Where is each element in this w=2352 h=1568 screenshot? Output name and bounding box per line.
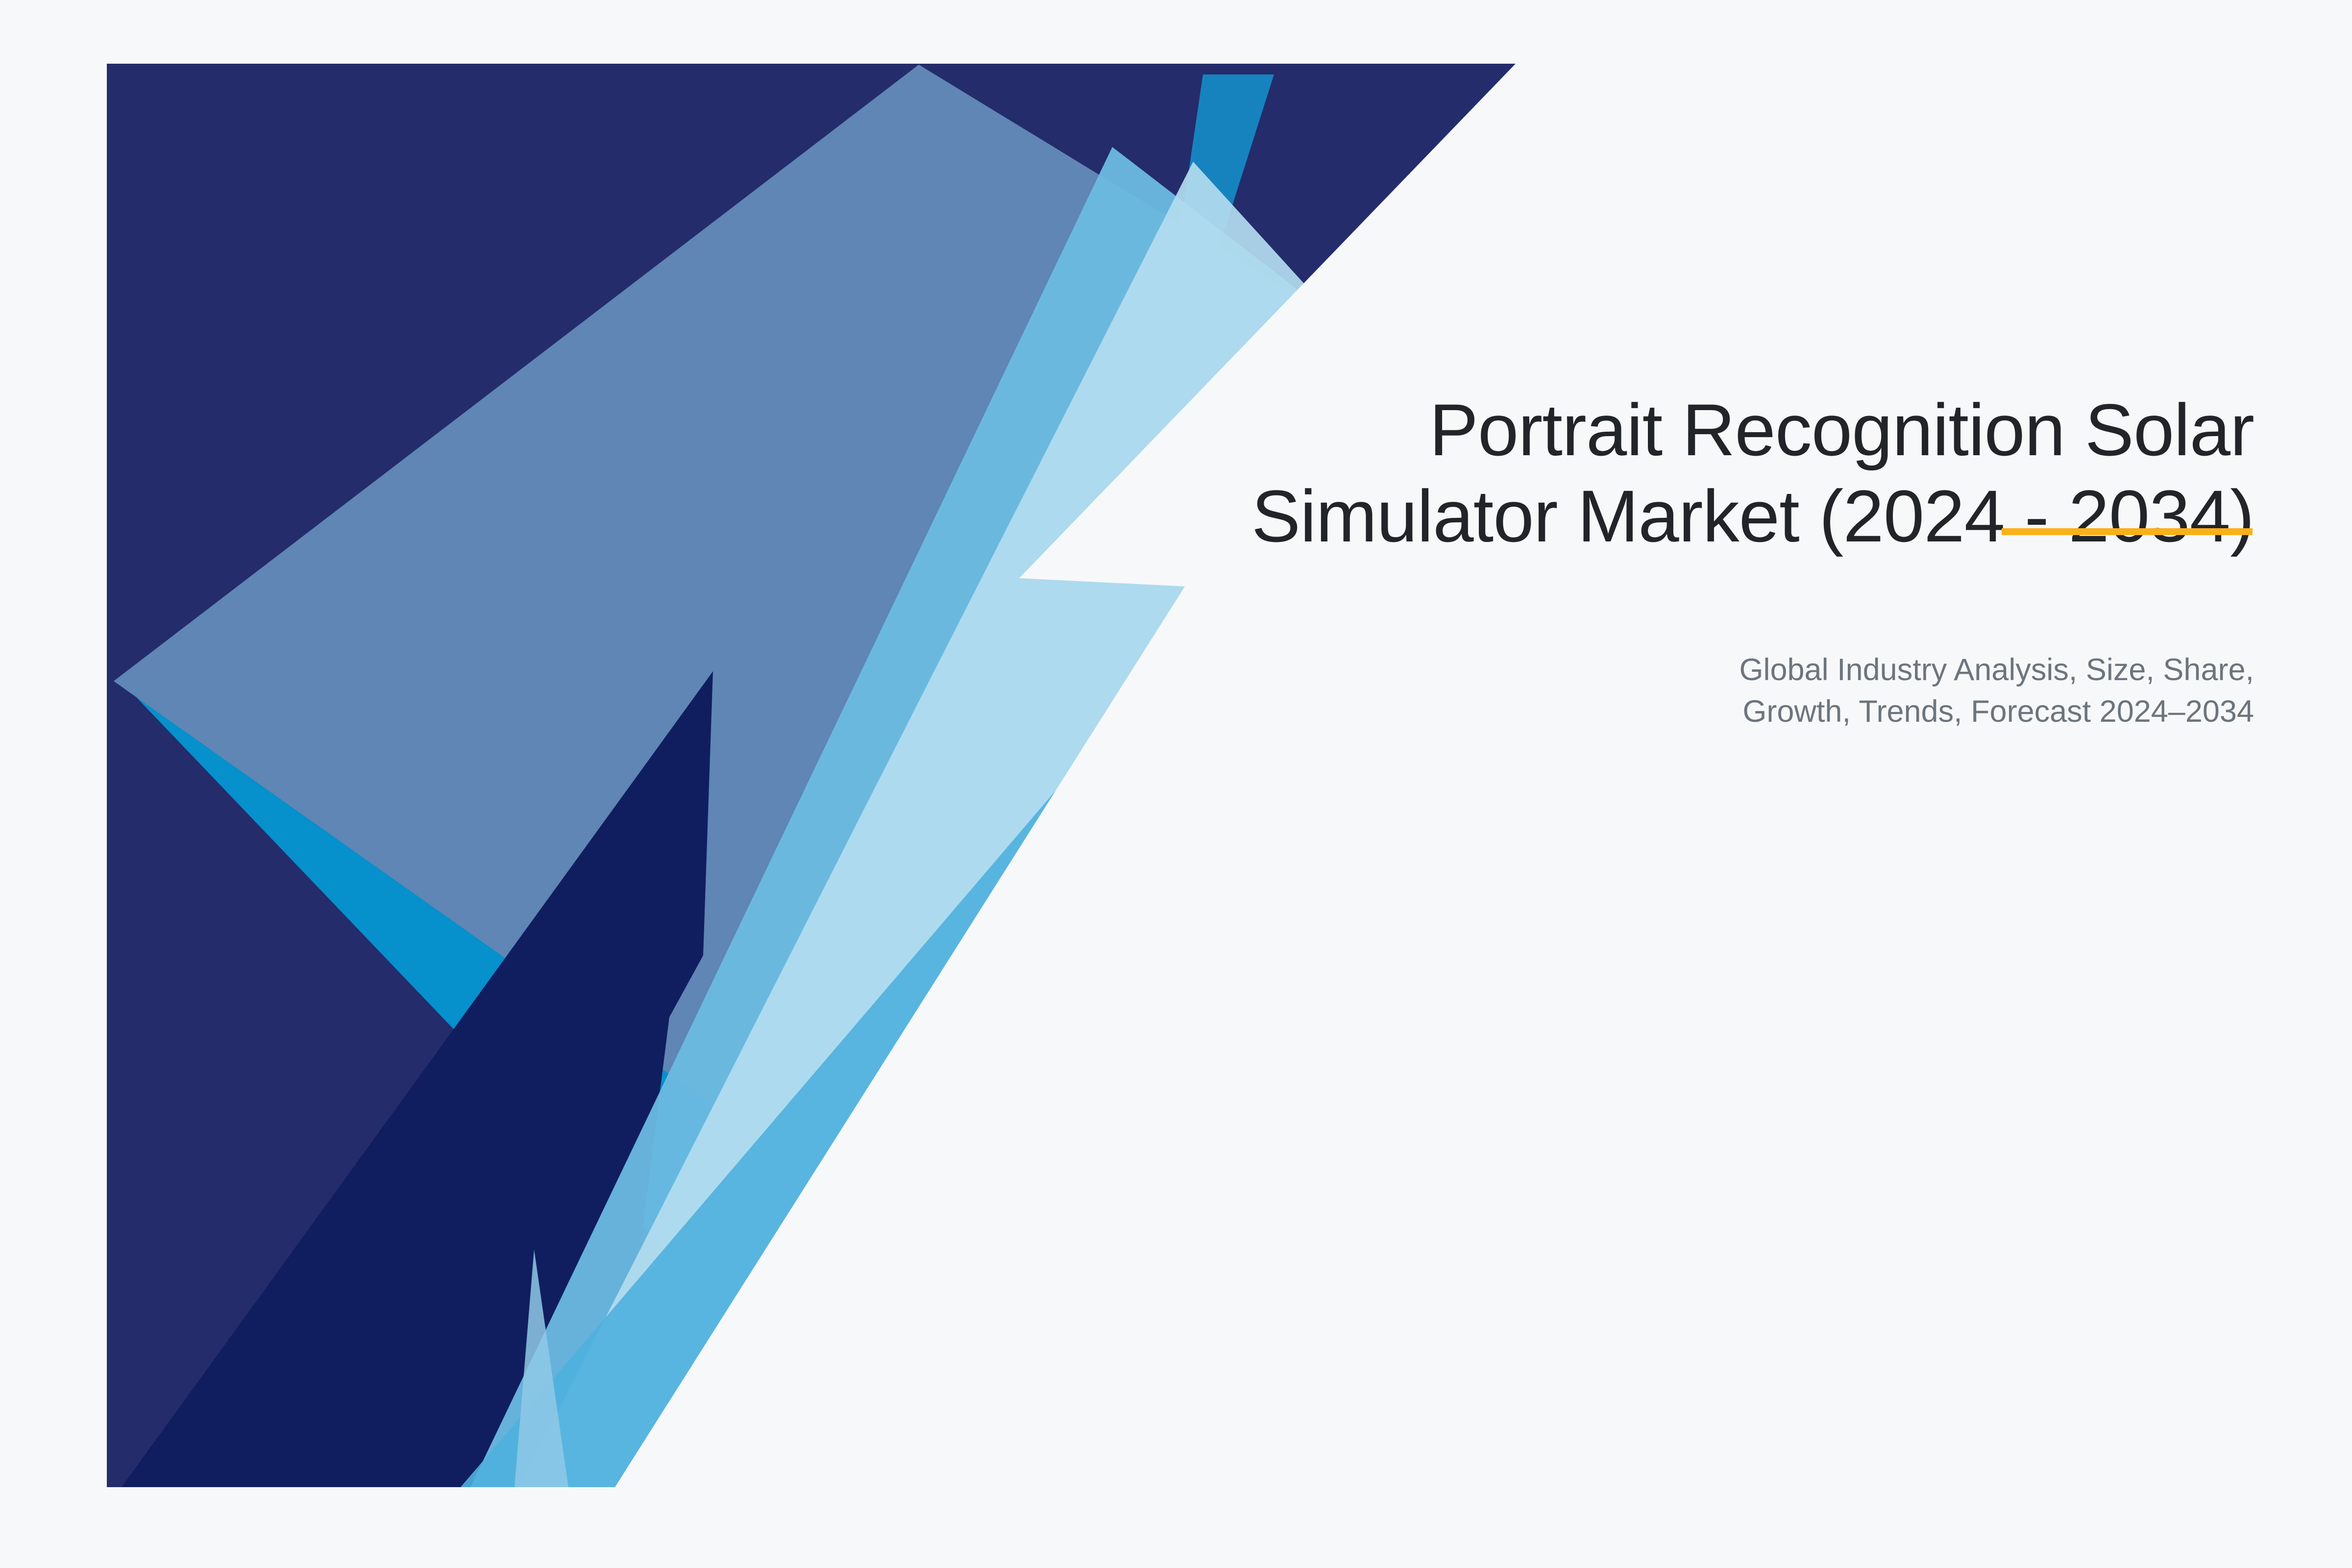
deep-navy-spike [122, 671, 713, 1487]
cyan-base-rect [107, 64, 1516, 1487]
accent-underline-rule [2002, 528, 2253, 535]
pale-blue-diagonal-band [519, 162, 1367, 1487]
pale-blue-bottom-notch [514, 1249, 568, 1487]
page-subtitle: Global Industry Analysis, Size, Share, G… [1519, 649, 2254, 733]
subtitle-block: Global Industry Analysis, Size, Share, G… [1519, 649, 2254, 733]
canvas-mask-right [0, 64, 2352, 1568]
navy-lower-left-region [107, 666, 725, 1487]
deep-navy-spike-core [343, 671, 713, 1487]
canvas-mask-top [0, 0, 2352, 64]
navy-left-band [107, 64, 921, 696]
mid-blue-lower-band [461, 764, 1254, 1487]
slate-large-quad [114, 65, 1367, 1117]
sky-blue-diagonal-band [470, 147, 1367, 1487]
canvas-mask-left [0, 0, 107, 1568]
abstract-polygon-graphic [0, 0, 2352, 1568]
slide-canvas: Portrait Recognition Solar Simulator Mar… [0, 0, 2352, 1568]
